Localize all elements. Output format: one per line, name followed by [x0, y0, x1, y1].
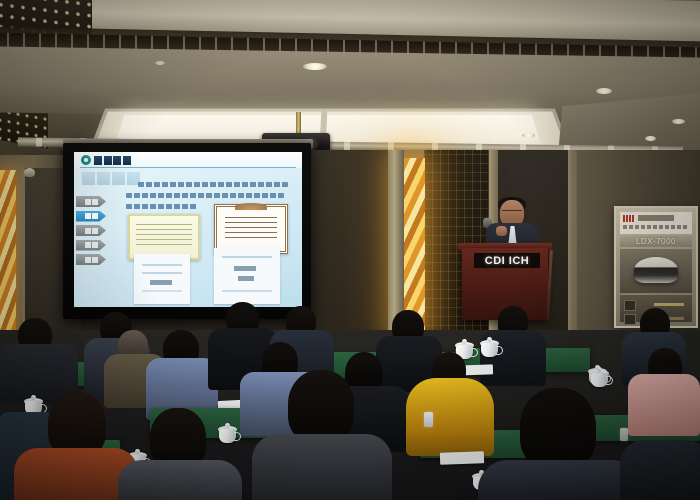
- lidded-teacup: [218, 424, 238, 443]
- company-logo-icon: [81, 155, 91, 165]
- attendee-head: [520, 388, 596, 470]
- recessed-downlight: [672, 119, 685, 124]
- smartphone: [424, 412, 433, 427]
- lidded-teacup: [590, 368, 610, 387]
- certificate-right-page: [214, 248, 280, 304]
- attendee-body: [406, 378, 494, 456]
- slide-nav-item-3: [76, 240, 106, 251]
- presenter-glasses: [502, 210, 522, 216]
- banner-subtitle: [623, 225, 689, 229]
- banner-company-logo: [623, 215, 635, 222]
- slide-body-line: [126, 193, 284, 198]
- attendee-head: [288, 370, 354, 444]
- conference-hall-photo: CDI ICH LDX-7000: [0, 0, 700, 500]
- slide-nav-item-0: [76, 196, 106, 207]
- recessed-downlight: [596, 88, 612, 94]
- banner-spec-cell: [624, 314, 636, 325]
- attendee-body: [252, 434, 392, 500]
- handout-papers: [440, 451, 484, 465]
- slide-nav-item-1-active: [76, 211, 106, 222]
- slide-nav-tabs: [76, 196, 106, 265]
- podium-sign-text: CDI ICH: [485, 255, 529, 267]
- banner-header: [620, 212, 692, 234]
- instrument-device: [634, 257, 678, 283]
- recessed-downlight: [155, 61, 165, 65]
- wall-column: [568, 150, 577, 350]
- banner-company-name: [638, 215, 674, 221]
- attendee-body: [620, 440, 700, 500]
- presenter-hand: [496, 226, 507, 236]
- recessed-downlight: [645, 136, 656, 141]
- banner-model-text: LDX-7000: [620, 236, 692, 247]
- smartphone: [620, 428, 628, 441]
- lidded-teacup: [480, 338, 500, 357]
- podium-sign: CDI ICH: [474, 253, 540, 268]
- instrument-product-photo: [620, 249, 692, 293]
- recessed-downlight: [522, 133, 535, 138]
- company-logo-text: [94, 156, 131, 165]
- attendee-body: [118, 460, 242, 500]
- slide-header-rule: [80, 167, 296, 168]
- projector-mount-pole: [296, 112, 301, 134]
- banner-spec-cell: [624, 300, 636, 311]
- slide-nav-item-2: [76, 225, 106, 236]
- slide-body-line: [138, 182, 288, 187]
- attendee-body: [478, 460, 642, 500]
- projected-slide: [74, 152, 302, 307]
- certificate-left-page: [134, 254, 190, 304]
- banner-spec-bar: [654, 303, 684, 306]
- slide-body-line: [126, 204, 198, 209]
- attendee-body: [628, 374, 700, 436]
- recessed-downlight: [303, 63, 327, 70]
- wall-speaker: [24, 168, 35, 177]
- slide-nav-item-4: [76, 254, 106, 265]
- certificate-right: [214, 204, 288, 254]
